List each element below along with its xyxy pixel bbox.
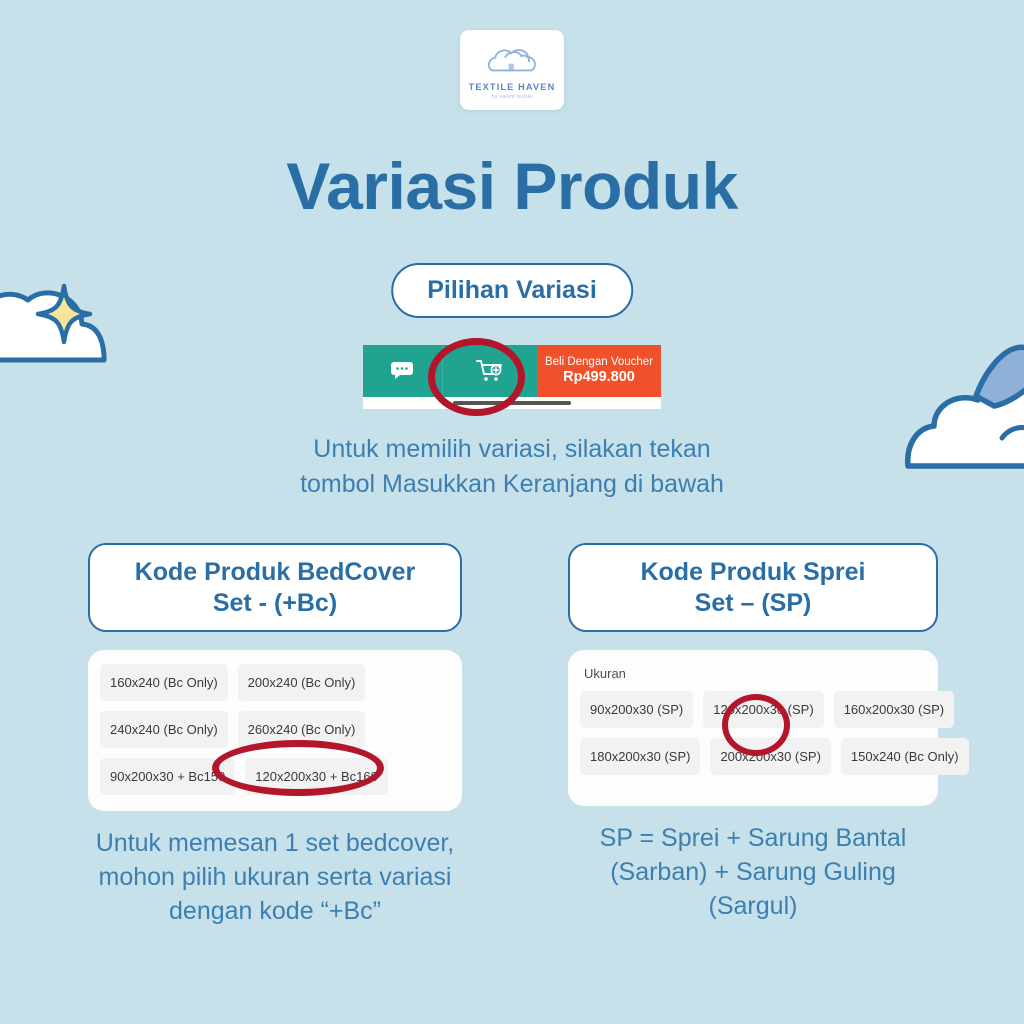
cloud-logo-icon bbox=[485, 45, 539, 79]
variant-chip[interactable]: 90x200x30 + Bc150 bbox=[100, 758, 235, 795]
variant-chip-highlighted[interactable]: 120x200x30 (SP) bbox=[703, 691, 823, 728]
caption-line-2: mohon pilih ukuran serta variasi bbox=[88, 861, 462, 895]
chip-card-sprei: Ukuran 90x200x30 (SP) 120x200x30 (SP) 16… bbox=[568, 650, 938, 806]
chip-row: 90x200x30 + Bc150 120x200x30 + Bc160 bbox=[100, 758, 450, 795]
shop-action-bar: Beli Dengan Voucher Rp499.800 bbox=[363, 345, 661, 409]
caption-bedcover: Untuk memesan 1 set bedcover, mohon pili… bbox=[88, 827, 462, 928]
column-bedcover: Kode Produk BedCover Set - (+Bc) 160x240… bbox=[88, 543, 462, 928]
add-to-cart-icon bbox=[475, 358, 505, 384]
variant-chip[interactable]: 90x200x30 (SP) bbox=[580, 691, 693, 728]
variant-chip[interactable]: 150x240 (Bc Only) bbox=[841, 738, 969, 775]
section-head-bedcover: Kode Produk BedCover Set - (+Bc) bbox=[88, 543, 462, 632]
chip-row: 90x200x30 (SP) 120x200x30 (SP) 160x200x3… bbox=[580, 691, 926, 728]
home-indicator-bar bbox=[363, 397, 661, 409]
ukuran-label: Ukuran bbox=[584, 666, 926, 681]
lead-note-line-2: tombol Masukkan Keranjang di bawah bbox=[0, 467, 1024, 502]
caption-line-2: (Sarban) + Sarung Guling (Sargul) bbox=[568, 856, 938, 924]
home-indicator-handle bbox=[453, 401, 571, 405]
poster-canvas: TEXTILE HAVEN by valent textile Variasi … bbox=[0, 0, 1024, 1024]
cloud-with-sparkle-icon bbox=[0, 248, 154, 368]
caption-line-3: dengan kode “+Bc” bbox=[88, 895, 462, 929]
section-head-line-1: Kode Produk Sprei bbox=[580, 557, 926, 588]
chat-button[interactable] bbox=[363, 345, 443, 397]
lead-note: Untuk memilih variasi, silakan tekan tom… bbox=[0, 432, 1024, 501]
caption-line-1: SP = Sprei + Sarung Bantal bbox=[568, 822, 938, 856]
section-head-line-2: Set - (+Bc) bbox=[100, 588, 450, 619]
variant-chip[interactable]: 200x240 (Bc Only) bbox=[238, 664, 366, 701]
lead-note-line-1: Untuk memilih variasi, silakan tekan bbox=[0, 432, 1024, 467]
variant-chip[interactable]: 200x200x30 (SP) bbox=[710, 738, 830, 775]
chip-row: 180x200x30 (SP) 200x200x30 (SP) 150x240 … bbox=[580, 738, 926, 775]
chat-bubble-icon bbox=[390, 360, 416, 382]
variant-chip-highlighted[interactable]: 120x200x30 + Bc160 bbox=[245, 758, 388, 795]
chip-row: 160x240 (Bc Only) 200x240 (Bc Only) bbox=[100, 664, 450, 701]
brand-logo-card: TEXTILE HAVEN by valent textile bbox=[460, 30, 564, 110]
variant-chip[interactable]: 260x240 (Bc Only) bbox=[238, 711, 366, 748]
chip-card-bedcover: 160x240 (Bc Only) 200x240 (Bc Only) 240x… bbox=[88, 650, 462, 811]
caption-sprei: SP = Sprei + Sarung Bantal (Sarban) + Sa… bbox=[568, 822, 938, 923]
buy-with-voucher-button[interactable]: Beli Dengan Voucher Rp499.800 bbox=[537, 345, 661, 397]
variant-chip[interactable]: 160x200x30 (SP) bbox=[834, 691, 954, 728]
section-head-sprei: Kode Produk Sprei Set – (SP) bbox=[568, 543, 938, 632]
buy-price: Rp499.800 bbox=[563, 369, 635, 386]
variant-chip[interactable]: 240x240 (Bc Only) bbox=[100, 711, 228, 748]
brand-name: TEXTILE HAVEN bbox=[469, 82, 556, 92]
page-title: Variasi Produk bbox=[0, 148, 1024, 224]
caption-line-1: Untuk memesan 1 set bedcover, bbox=[88, 827, 462, 861]
section-head-line-1: Kode Produk BedCover bbox=[100, 557, 450, 588]
variant-chip[interactable]: 180x200x30 (SP) bbox=[580, 738, 700, 775]
column-sprei: Kode Produk Sprei Set – (SP) Ukuran 90x2… bbox=[568, 543, 938, 923]
buy-label: Beli Dengan Voucher bbox=[545, 356, 653, 369]
brand-tagline: by valent textile bbox=[492, 94, 532, 100]
pilihan-variasi-pill: Pilihan Variasi bbox=[391, 263, 633, 318]
chip-row: 240x240 (Bc Only) 260x240 (Bc Only) bbox=[100, 711, 450, 748]
add-to-cart-button[interactable] bbox=[443, 345, 537, 397]
section-head-line-2: Set – (SP) bbox=[580, 588, 926, 619]
variant-chip[interactable]: 160x240 (Bc Only) bbox=[100, 664, 228, 701]
